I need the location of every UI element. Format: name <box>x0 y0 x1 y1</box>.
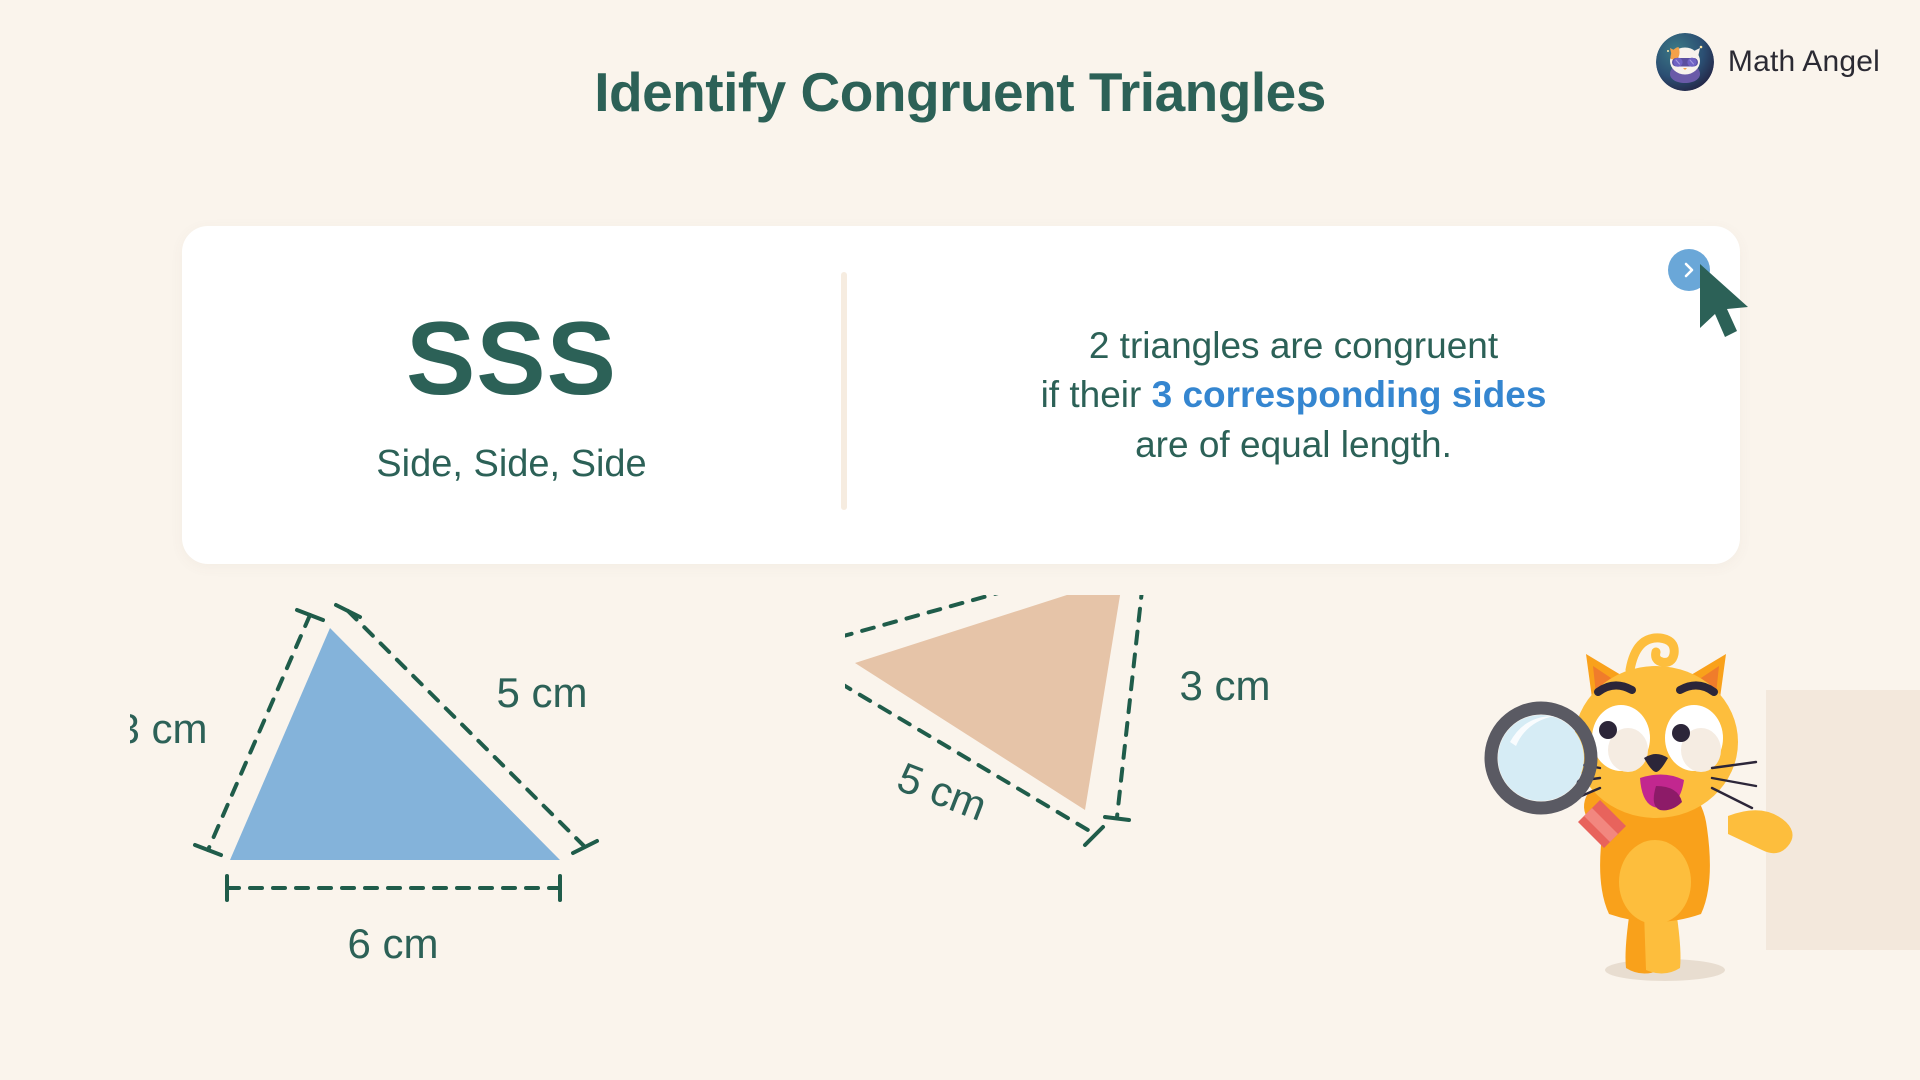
abbreviation-block: SSS Side, Side, Side <box>182 226 841 564</box>
page-title: Identify Congruent Triangles <box>0 60 1920 124</box>
rule-line-1: 2 triangles are congruent <box>1089 325 1498 366</box>
rule-line-2-prefix: if their <box>1041 374 1152 415</box>
dimension-bottom-6cm <box>227 876 560 900</box>
abbreviation-expanded: Side, Side, Side <box>376 445 646 483</box>
tan-triangle-body <box>855 595 1123 810</box>
brand-logo: Math Angel <box>1656 33 1880 91</box>
cat-mascot-badge-icon <box>1656 33 1714 91</box>
tan-label-right: 3 cm <box>1179 662 1270 709</box>
blue-label-left: 3 cm <box>130 705 208 752</box>
rule-line-3: are of equal length. <box>1135 424 1452 465</box>
rule-statement: 2 triangles are congruent if their 3 cor… <box>1041 321 1547 469</box>
blue-label-bottom: 6 cm <box>347 920 438 967</box>
rule-line-2-highlight: 3 corresponding sides <box>1152 374 1547 415</box>
tan-label-top: 6 cm <box>916 595 1016 606</box>
abbreviation-code: SSS <box>406 307 617 411</box>
blue-triangle-area <box>230 628 560 860</box>
arrow-cursor-icon <box>1696 262 1766 342</box>
cat-mascot <box>1480 630 1820 990</box>
chevron-right-icon <box>1681 260 1697 280</box>
tan-triangle-figure: 6 cm 5 cm 3 cm <box>845 595 1495 1025</box>
slide-canvas: Identify Congruent Triangles <box>0 0 1920 1080</box>
blue-triangle-figure: 3 cm 5 cm 6 cm <box>130 595 850 1055</box>
rule-statement-block: 2 triangles are congruent if their 3 cor… <box>847 226 1740 564</box>
blue-label-right: 5 cm <box>496 669 587 716</box>
brand-name: Math Angel <box>1728 45 1880 79</box>
